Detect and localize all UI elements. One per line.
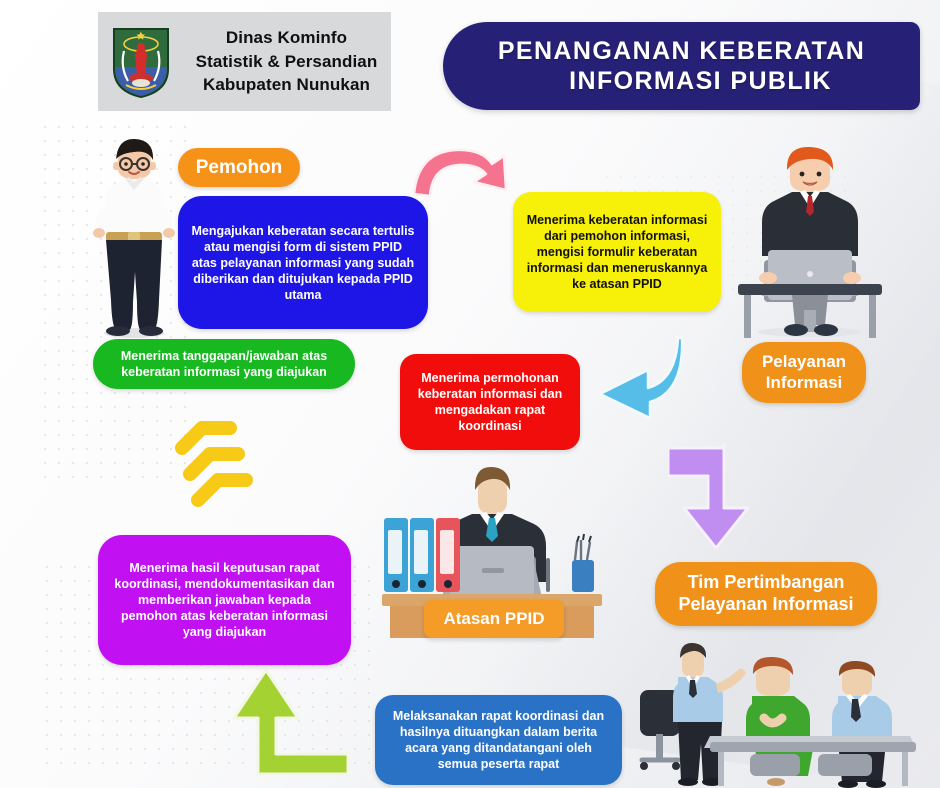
- step-box-pemohon-statement: Mengajukan keberatan secara tertulis ata…: [178, 196, 428, 329]
- arrow-cyan-curve-down-left-icon: [592, 336, 684, 422]
- label-tim-line-1: Tim Pertimbangan: [688, 572, 845, 594]
- step-box-rapat-koordinasi: Melaksanakan rapat koordinasi dan hasiln…: [375, 695, 622, 785]
- arrow-pink-curve-right-icon: [408, 138, 518, 200]
- organization-header-panel: Dinas Kominfo Statistik & Persandian Kab…: [98, 12, 391, 111]
- arrow-purple-bend-down-icon: [668, 438, 762, 552]
- org-line-2: Statistik & Persandian: [182, 50, 391, 73]
- illustration-rapat-koordinasi-meeting: [632, 638, 932, 788]
- infographic-poster: Dinas Kominfo Statistik & Persandian Kab…: [0, 0, 940, 788]
- poster-title-banner: PENANGANAN KEBERATAN INFORMASI PUBLIK: [443, 22, 920, 110]
- label-pelayanan-line-1: Pelayanan: [762, 352, 846, 373]
- org-line-1: Dinas Kominfo: [182, 26, 391, 49]
- arrow-green-bend-up-icon: [222, 662, 354, 778]
- arrow-yellow-chevrons-up-left-icon: [166, 414, 268, 526]
- step-box-pelayanan-statement: Menerima keberatan informasi dari pemoho…: [513, 192, 721, 312]
- nunukan-regency-crest-icon: [110, 25, 172, 99]
- label-pemohon[interactable]: Pemohon: [178, 148, 300, 187]
- label-atasan-ppid[interactable]: Atasan PPID: [424, 600, 564, 638]
- label-pelayanan-informasi[interactable]: Pelayanan Informasi: [742, 342, 866, 403]
- label-tim-pertimbangan[interactable]: Tim Pertimbangan Pelayanan Informasi: [655, 562, 877, 626]
- step-box-hasil-keputusan: Menerima hasil keputusan rapat koordinas…: [98, 535, 351, 665]
- label-pemohon-text: Pemohon: [196, 156, 283, 179]
- illustration-petugas-pelayanan-at-desk: [732, 134, 888, 338]
- title-line-1: PENANGANAN KEBERATAN: [498, 36, 865, 67]
- label-pelayanan-line-2: Informasi: [766, 373, 843, 394]
- illustration-pemohon-standing-man: [82, 132, 186, 338]
- label-atasan-text: Atasan PPID: [443, 609, 544, 630]
- step-box-menerima-permohonan: Menerima permohonan keberatan informasi …: [400, 354, 580, 450]
- title-line-2: INFORMASI PUBLIK: [569, 66, 832, 97]
- step-box-menerima-tanggapan: Menerima tanggapan/jawaban atas keberata…: [93, 339, 355, 389]
- org-line-3: Kabupaten Nunukan: [182, 73, 391, 96]
- label-tim-line-2: Pelayanan Informasi: [678, 594, 853, 616]
- organization-name: Dinas Kominfo Statistik & Persandian Kab…: [182, 26, 391, 96]
